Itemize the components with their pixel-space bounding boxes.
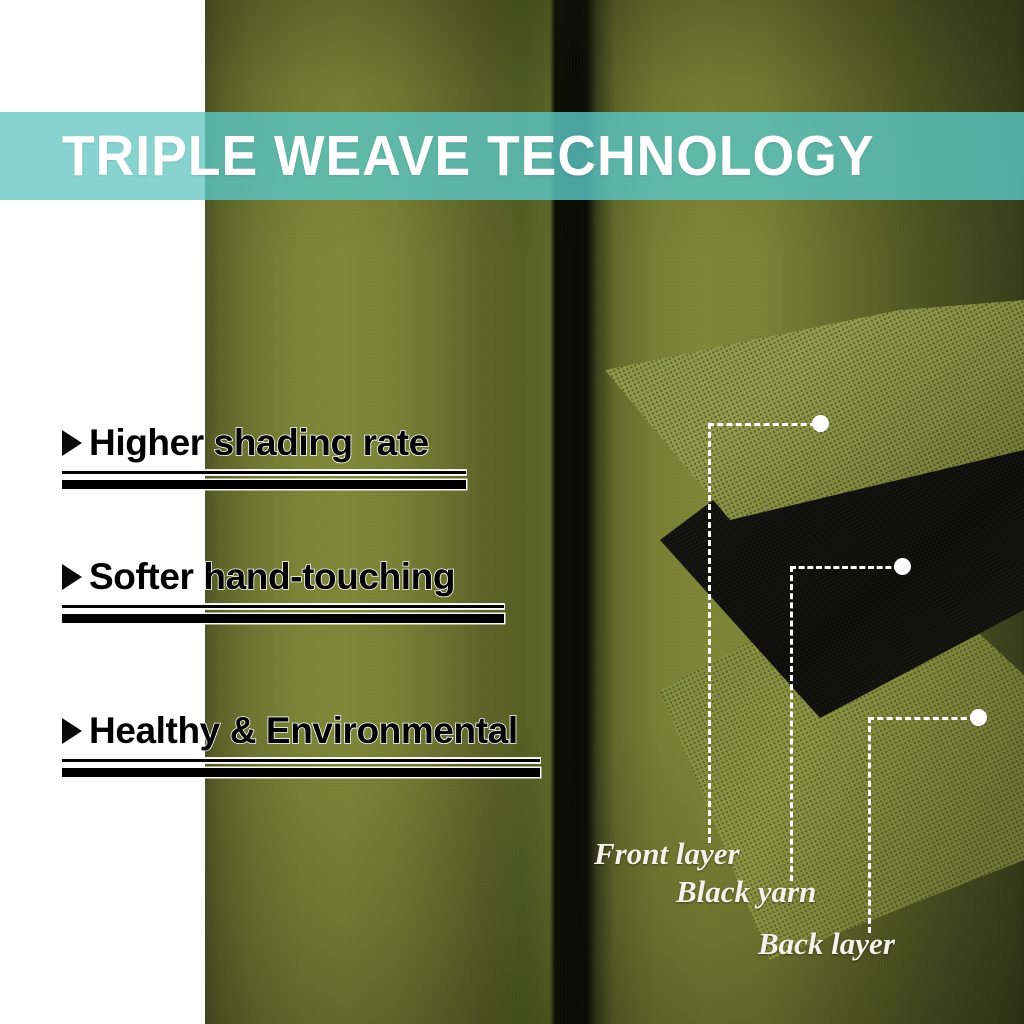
triple-weave-layer-diagram: Front layer Black yarn Back layer xyxy=(0,0,1024,1024)
callout-line-h-black-yarn xyxy=(790,566,900,569)
callout-line-v-black-yarn xyxy=(790,566,793,881)
callout-label-front-layer: Front layer xyxy=(594,836,740,872)
callout-label-black-yarn: Black yarn xyxy=(676,874,816,910)
front-layer-shape xyxy=(600,300,1024,630)
product-infographic: TRIPLE WEAVE TECHNOLOGY Higher shading r… xyxy=(0,0,1024,1024)
callout-label-back-layer: Back layer xyxy=(758,926,895,962)
callout-line-v-back-layer xyxy=(868,717,871,933)
callout-line-v-front-layer xyxy=(708,423,711,843)
callout-line-h-front-layer xyxy=(708,423,816,426)
callout-line-h-back-layer xyxy=(868,717,976,720)
